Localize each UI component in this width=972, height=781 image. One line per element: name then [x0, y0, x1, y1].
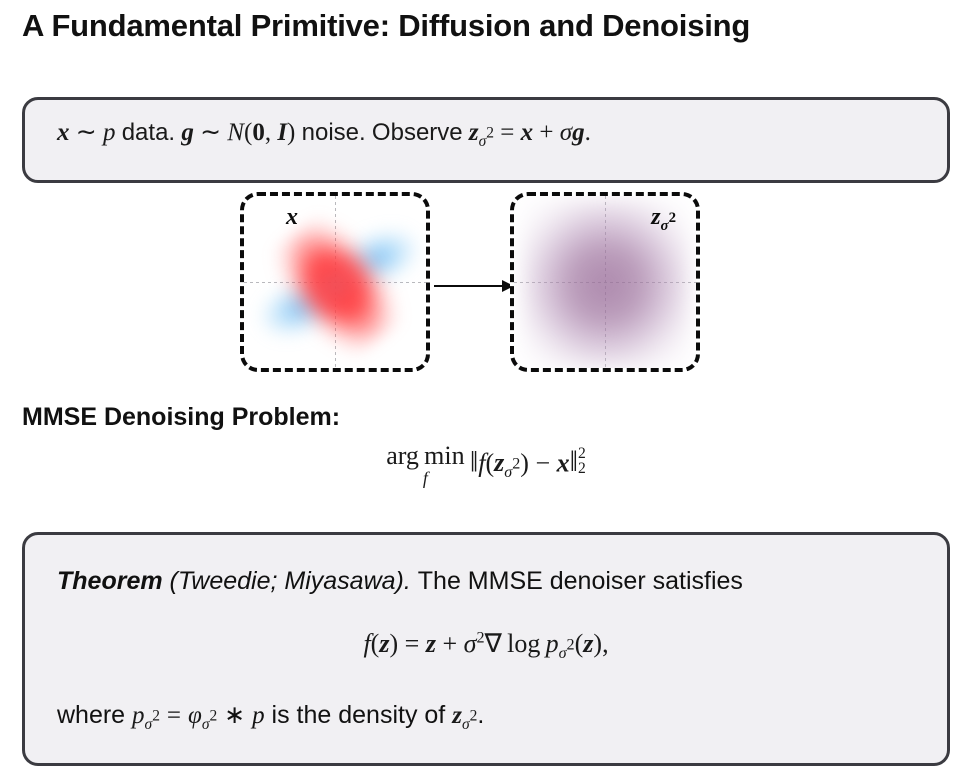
argmin-min: min	[424, 441, 464, 470]
noisy-panel-label-sigma: σ	[661, 218, 669, 234]
setup-observe-word: Observe	[372, 119, 463, 146]
closing-p: p	[132, 702, 145, 729]
theorem-nabla: ∇	[485, 629, 502, 658]
setup-identity-matrix: I	[277, 119, 287, 146]
setup-equals: =	[500, 119, 514, 146]
argmin-arg: arg	[386, 441, 419, 470]
theorem-callout-box: Theorem (Tweedie; Miyasawa). The MMSE de…	[22, 532, 950, 766]
theorem-log: log	[507, 629, 540, 658]
theorem-equation: f(z) = z + σ2∇ log pσ2(z),	[25, 629, 947, 663]
diffusion-figure: x zσ2	[232, 192, 710, 384]
mmse-paren-open: (	[485, 448, 494, 477]
data-density-panel: x	[240, 192, 430, 372]
noisy-panel-label-z: z	[651, 204, 660, 230]
argmin-subscript: f	[386, 470, 464, 488]
theorem-z-rhs: z	[426, 629, 436, 658]
theorem-sigma: σ	[464, 629, 477, 658]
theorem-p-sub: σ	[559, 645, 567, 662]
setup-sim-1: ∼	[76, 119, 97, 146]
theorem-plus: +	[442, 629, 457, 658]
theorem-z-arg: z	[379, 629, 389, 658]
page-title: A Fundamental Primitive: Diffusion and D…	[22, 8, 750, 44]
theorem-paren-open-2: (	[575, 629, 584, 658]
closing-phi: φ	[188, 702, 202, 729]
theorem-statement-line: Theorem (Tweedie; Miyasawa). The MMSE de…	[57, 567, 743, 596]
data-panel-label: x	[286, 204, 298, 231]
closing-z-sub: σ	[462, 716, 470, 733]
closing-p-sub-exp: 2	[152, 708, 160, 725]
mmse-section-heading: MMSE Denoising Problem:	[22, 403, 340, 432]
theorem-paren-close: )	[389, 629, 398, 658]
theorem-sigma-exponent: 2	[476, 629, 484, 646]
theorem-paren-close-2: )	[593, 629, 602, 658]
closing-mid-text: is the density of	[272, 701, 446, 729]
mmse-z-sub: σ	[504, 465, 512, 482]
norm-close-bar: ‖	[570, 445, 578, 478]
setup-z-subscript-exponent: 2	[486, 125, 494, 142]
theorem-statement-text: The MMSE denoiser satisfies	[418, 567, 743, 595]
theorem-closing-line: where pσ2 = φσ2 ∗ p is the density of zσ…	[57, 700, 484, 734]
setup-g-var: g	[181, 119, 194, 146]
theorem-label: Theorem	[57, 567, 163, 595]
setup-sim-2: ∼	[200, 119, 221, 146]
mmse-objective-equation: arg min f ‖f(zσ2) − x‖22	[0, 443, 972, 488]
setup-p-var: p	[103, 119, 116, 146]
theorem-attribution: (Tweedie; Miyasawa).	[170, 567, 411, 595]
setup-g-var-2: g	[572, 119, 585, 146]
theorem-f: f	[363, 629, 370, 658]
setup-data-word: data.	[122, 119, 175, 146]
mmse-minus: −	[535, 448, 550, 477]
setup-zero-vector: 0	[252, 119, 265, 146]
argmin-top: arg min	[386, 443, 464, 469]
setup-noise-word: noise.	[302, 119, 366, 146]
closing-z: z	[452, 702, 462, 729]
setup-period: .	[585, 119, 591, 146]
theorem-p: p	[546, 629, 559, 658]
setup-normal-symbol: Ν	[227, 119, 244, 146]
closing-p-2: p	[252, 702, 265, 729]
setup-sigma: σ	[560, 119, 572, 146]
arrow-shaft	[434, 285, 506, 287]
mmse-z: z	[494, 448, 504, 477]
setup-callout-box: x ∼ p data. g ∼ Ν(0, I) noise. Observe z…	[22, 97, 950, 183]
noisy-panel-label: zσ2	[651, 204, 676, 235]
theorem-comma: ,	[602, 629, 609, 658]
mmse-paren-close: )	[520, 448, 529, 477]
mmse-norm-subscript: 2	[578, 462, 586, 477]
noisy-density-panel: zσ2	[510, 192, 700, 372]
norm-open-bar: ‖	[470, 445, 478, 478]
setup-statement: x ∼ p data. g ∼ Ν(0, I) noise. Observe z…	[57, 120, 591, 150]
theorem-where-word: where	[57, 701, 125, 729]
diffusion-arrow	[434, 280, 514, 292]
theorem-equals: =	[405, 629, 420, 658]
noisy-panel-label-exponent: 2	[669, 210, 676, 226]
setup-x-var-2: x	[521, 119, 534, 146]
closing-convolution: ∗	[224, 702, 245, 729]
argmin-operator: arg min f	[386, 443, 464, 488]
setup-z-var: z	[469, 119, 479, 146]
mmse-x: x	[557, 448, 570, 477]
theorem-p-sub-exp: 2	[567, 637, 575, 654]
theorem-z-arg-2: z	[583, 629, 593, 658]
closing-equals: =	[167, 702, 181, 729]
closing-period: .	[477, 701, 484, 729]
setup-x-var: x	[57, 119, 70, 146]
setup-plus: +	[539, 119, 553, 146]
